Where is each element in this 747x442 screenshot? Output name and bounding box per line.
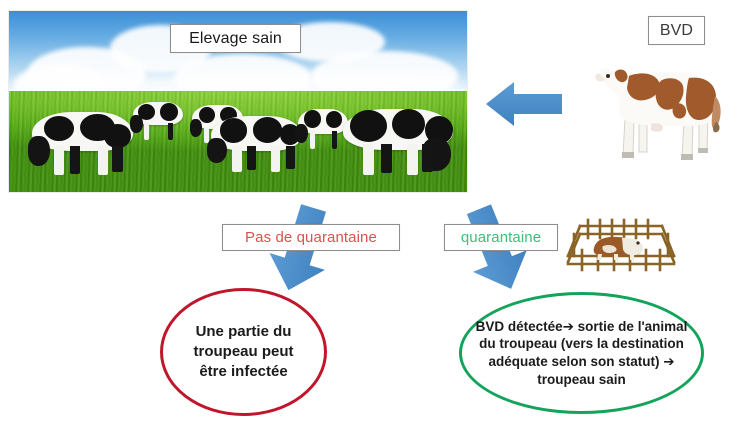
no-quarantine-label: Pas de quarantaine bbox=[222, 224, 400, 251]
negative-outcome-circle: Une partie du troupeau peut être infecté… bbox=[160, 288, 327, 416]
brown-white-cow-illustration bbox=[589, 52, 729, 176]
bvd-label: BVD bbox=[648, 16, 705, 45]
grazing-cow bbox=[343, 109, 453, 178]
healthy-herd-label: Elevage sain bbox=[170, 24, 301, 53]
diagram-canvas: Elevage sain BVD bbox=[0, 0, 747, 442]
bvd-label-text: BVD bbox=[660, 22, 693, 40]
grazing-cow bbox=[32, 112, 133, 177]
grazing-cow bbox=[133, 102, 183, 142]
healthy-herd-label-text: Elevage sain bbox=[189, 30, 282, 48]
positive-outcome-text: BVD détectée➔ sortie de l'animal du trou… bbox=[476, 318, 688, 388]
cow-svg bbox=[589, 52, 729, 176]
quarantine-label: quarantaine bbox=[444, 224, 558, 251]
positive-outcome-ellipse: BVD détectée➔ sortie de l'animal du trou… bbox=[459, 292, 704, 414]
quarantine-label-text: quarantaine bbox=[461, 229, 541, 246]
negative-outcome-text: Une partie du troupeau peut être infecté… bbox=[185, 322, 303, 381]
no-quarantine-label-text: Pas de quarantaine bbox=[245, 229, 377, 246]
blue-left-arrow bbox=[486, 78, 562, 130]
grazing-cow bbox=[211, 116, 303, 174]
pen-svg bbox=[562, 212, 680, 277]
grazing-cow bbox=[298, 109, 348, 151]
fenced-quarantine-pen-with-cow bbox=[562, 212, 680, 277]
arrow-left-svg bbox=[486, 78, 562, 130]
